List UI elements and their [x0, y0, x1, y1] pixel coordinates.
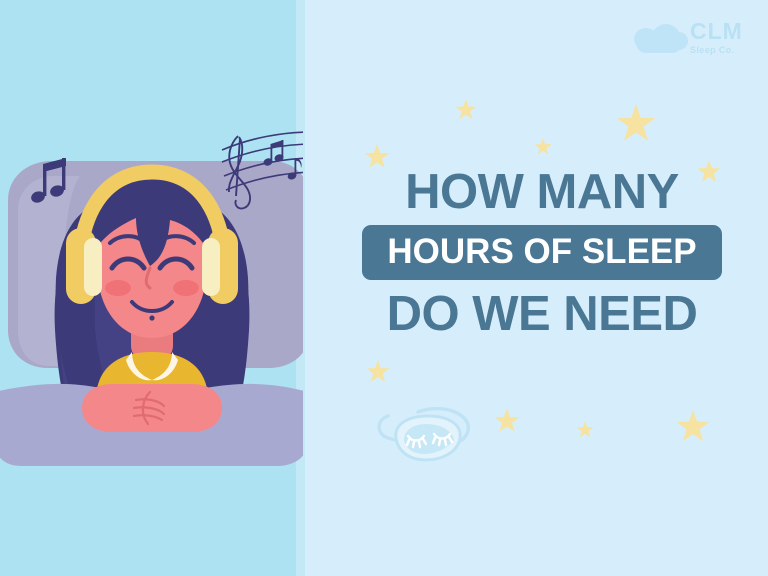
star — [494, 408, 520, 434]
logo-tagline: Sleep Co. — [690, 46, 756, 55]
right-ear-pad — [202, 238, 220, 296]
cloud-icon — [632, 24, 690, 54]
sleep-mask-svg — [374, 398, 478, 472]
star — [534, 138, 552, 156]
chin-dot — [149, 315, 154, 320]
star — [576, 421, 594, 439]
right-blush — [173, 280, 199, 296]
logo-name: CLM — [690, 20, 756, 43]
star — [676, 410, 710, 444]
star — [364, 144, 390, 170]
poster: CLM Sleep Co. HOW MANY HOURS OF SLEEP DO… — [0, 0, 768, 576]
headline-line-1: HOW MANY — [362, 168, 722, 217]
illustration-sleeping-girl — [0, 0, 303, 576]
star — [616, 104, 656, 144]
left-ear-pad — [84, 238, 102, 296]
sleep-mask-icon — [374, 398, 478, 472]
headline-line-2: HOURS OF SLEEP — [366, 234, 718, 269]
illustration-svg — [0, 0, 303, 576]
headline-highlight-band: HOURS OF SLEEP — [362, 225, 722, 280]
star — [455, 99, 477, 121]
brand-logo: CLM Sleep Co. — [632, 14, 756, 62]
star — [366, 360, 390, 384]
headline-line-3: DO WE NEED — [362, 290, 722, 339]
headline-block: HOW MANY HOURS OF SLEEP DO WE NEED — [362, 168, 722, 339]
left-blush — [105, 280, 131, 296]
